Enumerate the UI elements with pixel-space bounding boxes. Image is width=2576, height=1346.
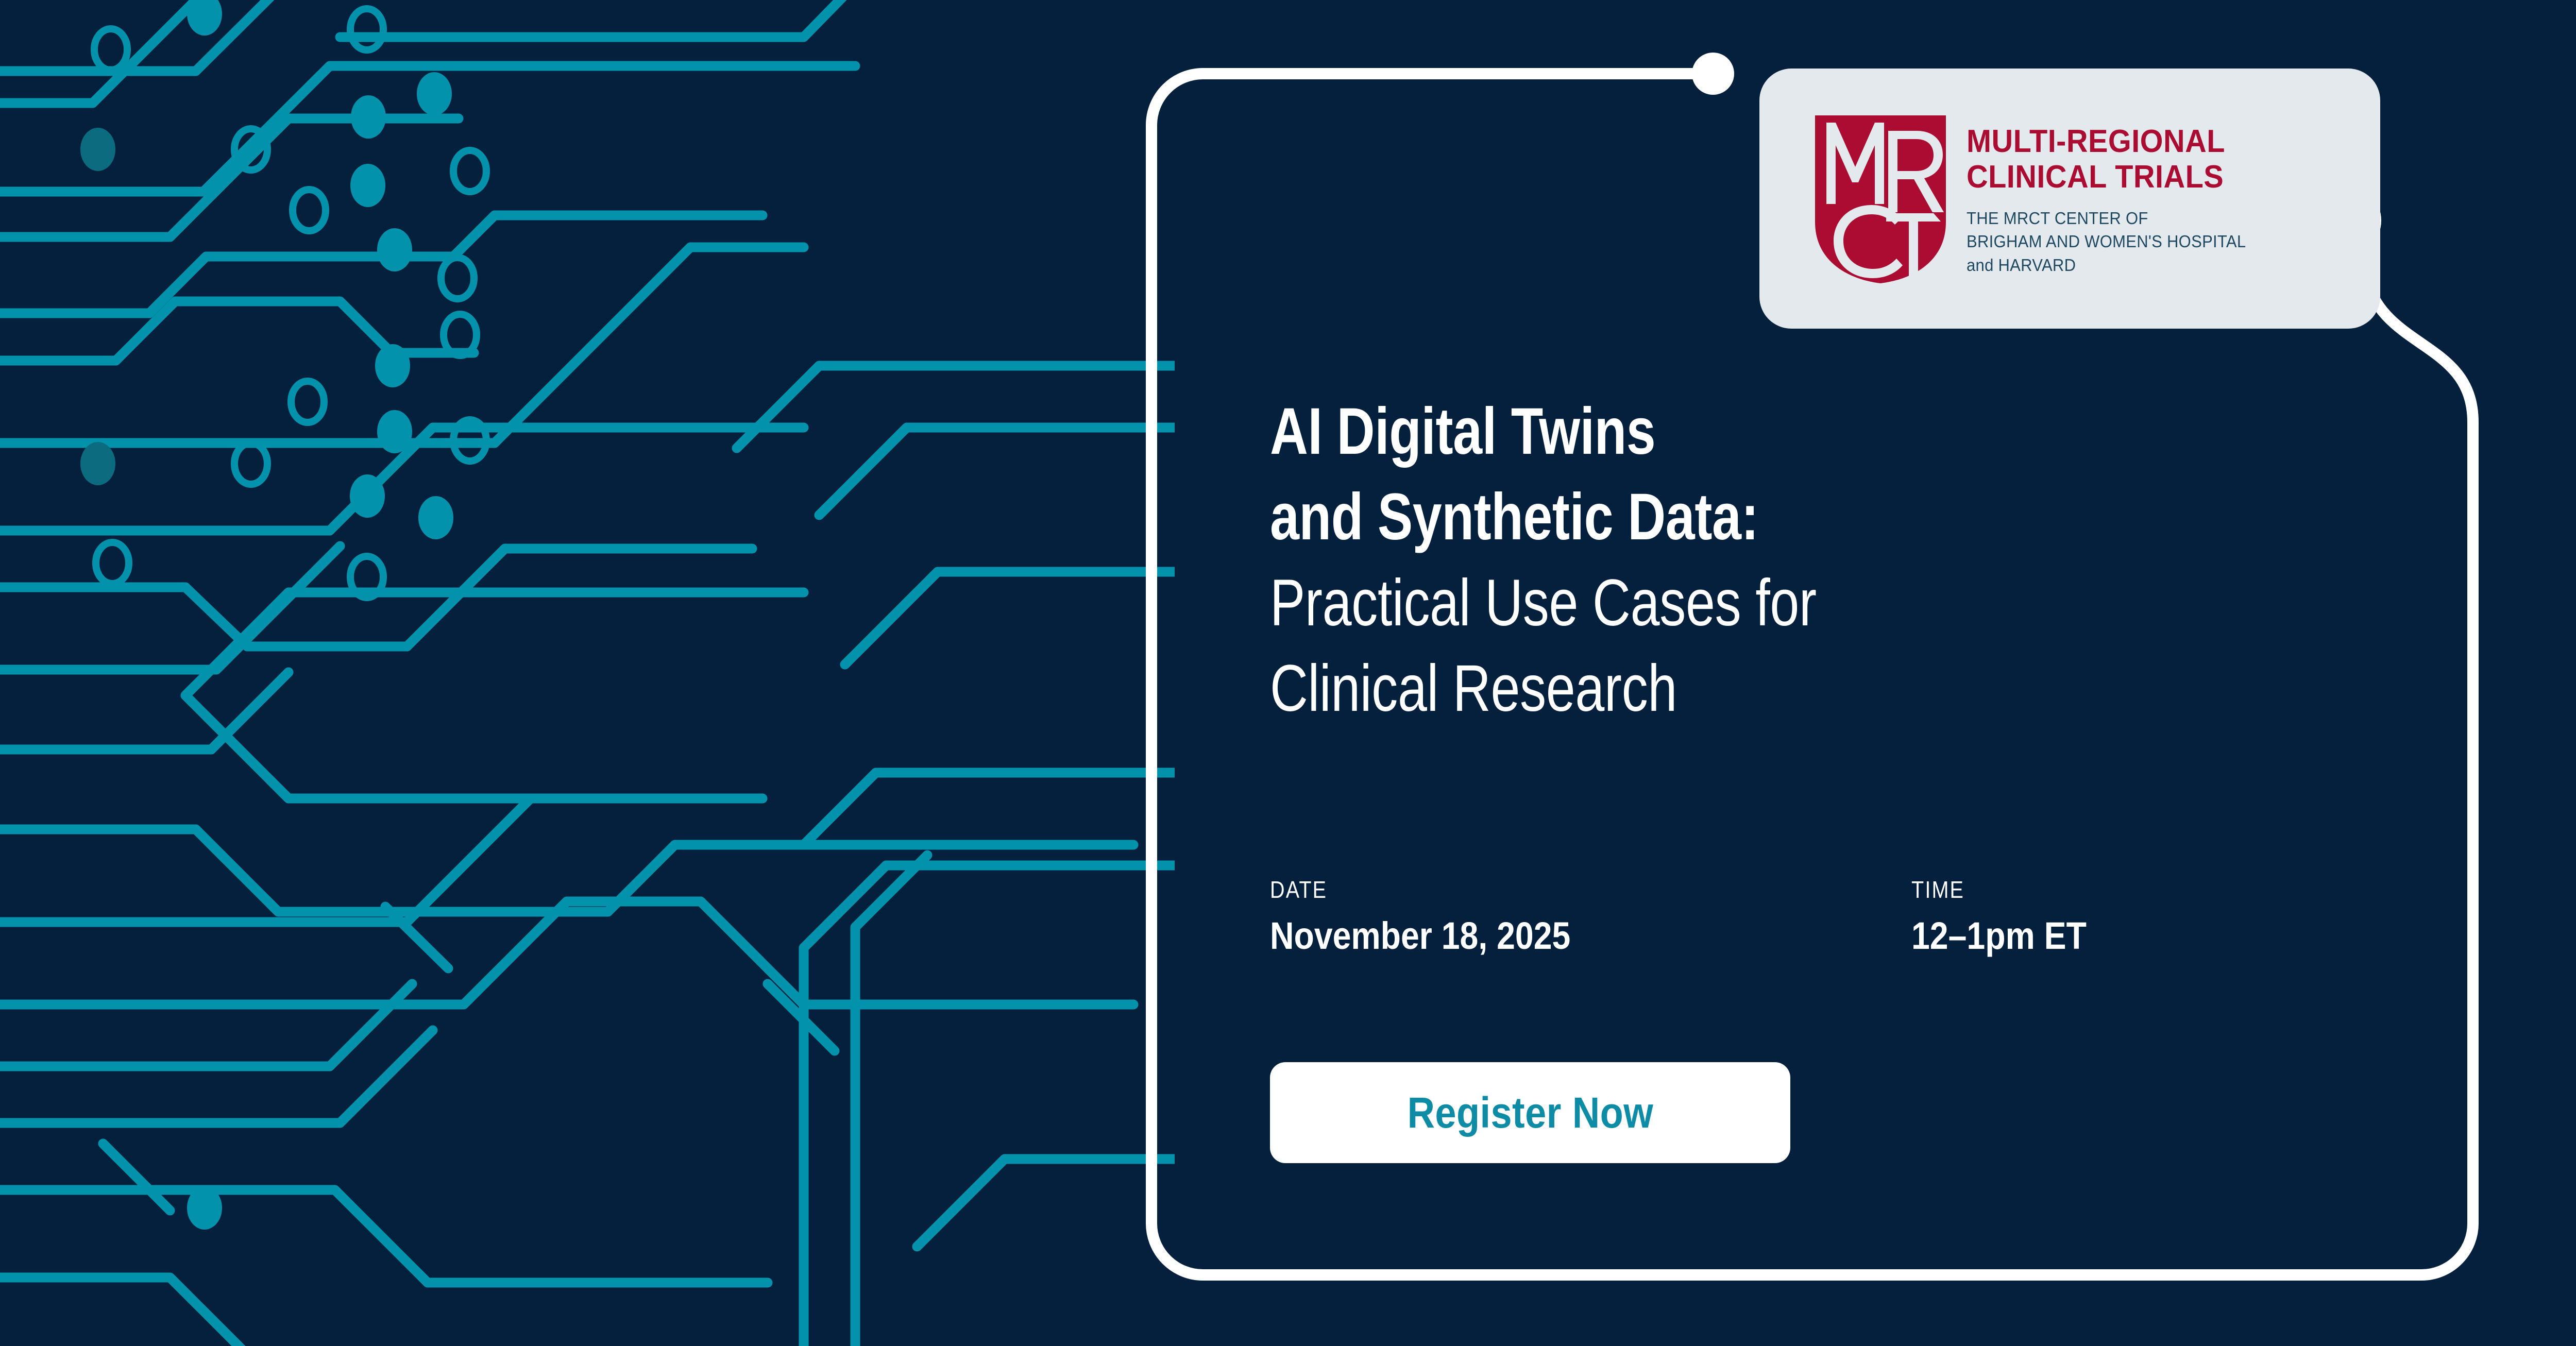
event-date-block: DATE November 18, 2025 (1270, 876, 1911, 958)
logo-name-line-1: MULTI-REGIONAL (1967, 124, 2243, 159)
time-value: 12–1pm ET (1911, 914, 2087, 958)
logo-affiliation-line-2: BRIGHAM AND WOMEN'S HOSPITAL (1967, 230, 2246, 253)
mrct-shield-icon (1811, 111, 1950, 286)
webinar-promo-banner: MULTI-REGIONAL CLINICAL TRIALS THE MRCT … (0, 0, 2576, 1346)
headline-line-1: AI Digital Twins (1270, 389, 2094, 474)
date-label: DATE (1270, 876, 1822, 904)
register-now-label: Register Now (1407, 1088, 1653, 1138)
event-time-block: TIME 12–1pm ET (1911, 876, 2113, 958)
headline-line-3: Practical Use Cases for (1270, 560, 2094, 646)
logo-affiliation-line-1: THE MRCT CENTER OF (1967, 207, 2246, 230)
mrct-logo-card: MULTI-REGIONAL CLINICAL TRIALS THE MRCT … (1759, 69, 2380, 329)
headline-line-2: and Synthetic Data: (1270, 474, 2094, 560)
register-now-button[interactable]: Register Now (1270, 1062, 1790, 1163)
event-meta-row: DATE November 18, 2025 TIME 12–1pm ET (1270, 876, 2113, 958)
circuit-pad-dim (80, 128, 115, 485)
circuit-board-decoration (0, 0, 1175, 1346)
page-title: AI Digital Twins and Synthetic Data: Pra… (1270, 389, 2300, 732)
logo-name-line-2: CLINICAL TRIALS (1967, 159, 2243, 195)
filled-circle-node (1692, 53, 1734, 95)
logo-text-block: MULTI-REGIONAL CLINICAL TRIALS THE MRCT … (1967, 121, 2264, 277)
time-label: TIME (1911, 876, 2084, 904)
headline-line-4: Clinical Research (1270, 646, 2094, 731)
logo-affiliation-line-3: and HARVARD (1967, 253, 2246, 277)
date-value: November 18, 2025 (1270, 914, 1828, 958)
